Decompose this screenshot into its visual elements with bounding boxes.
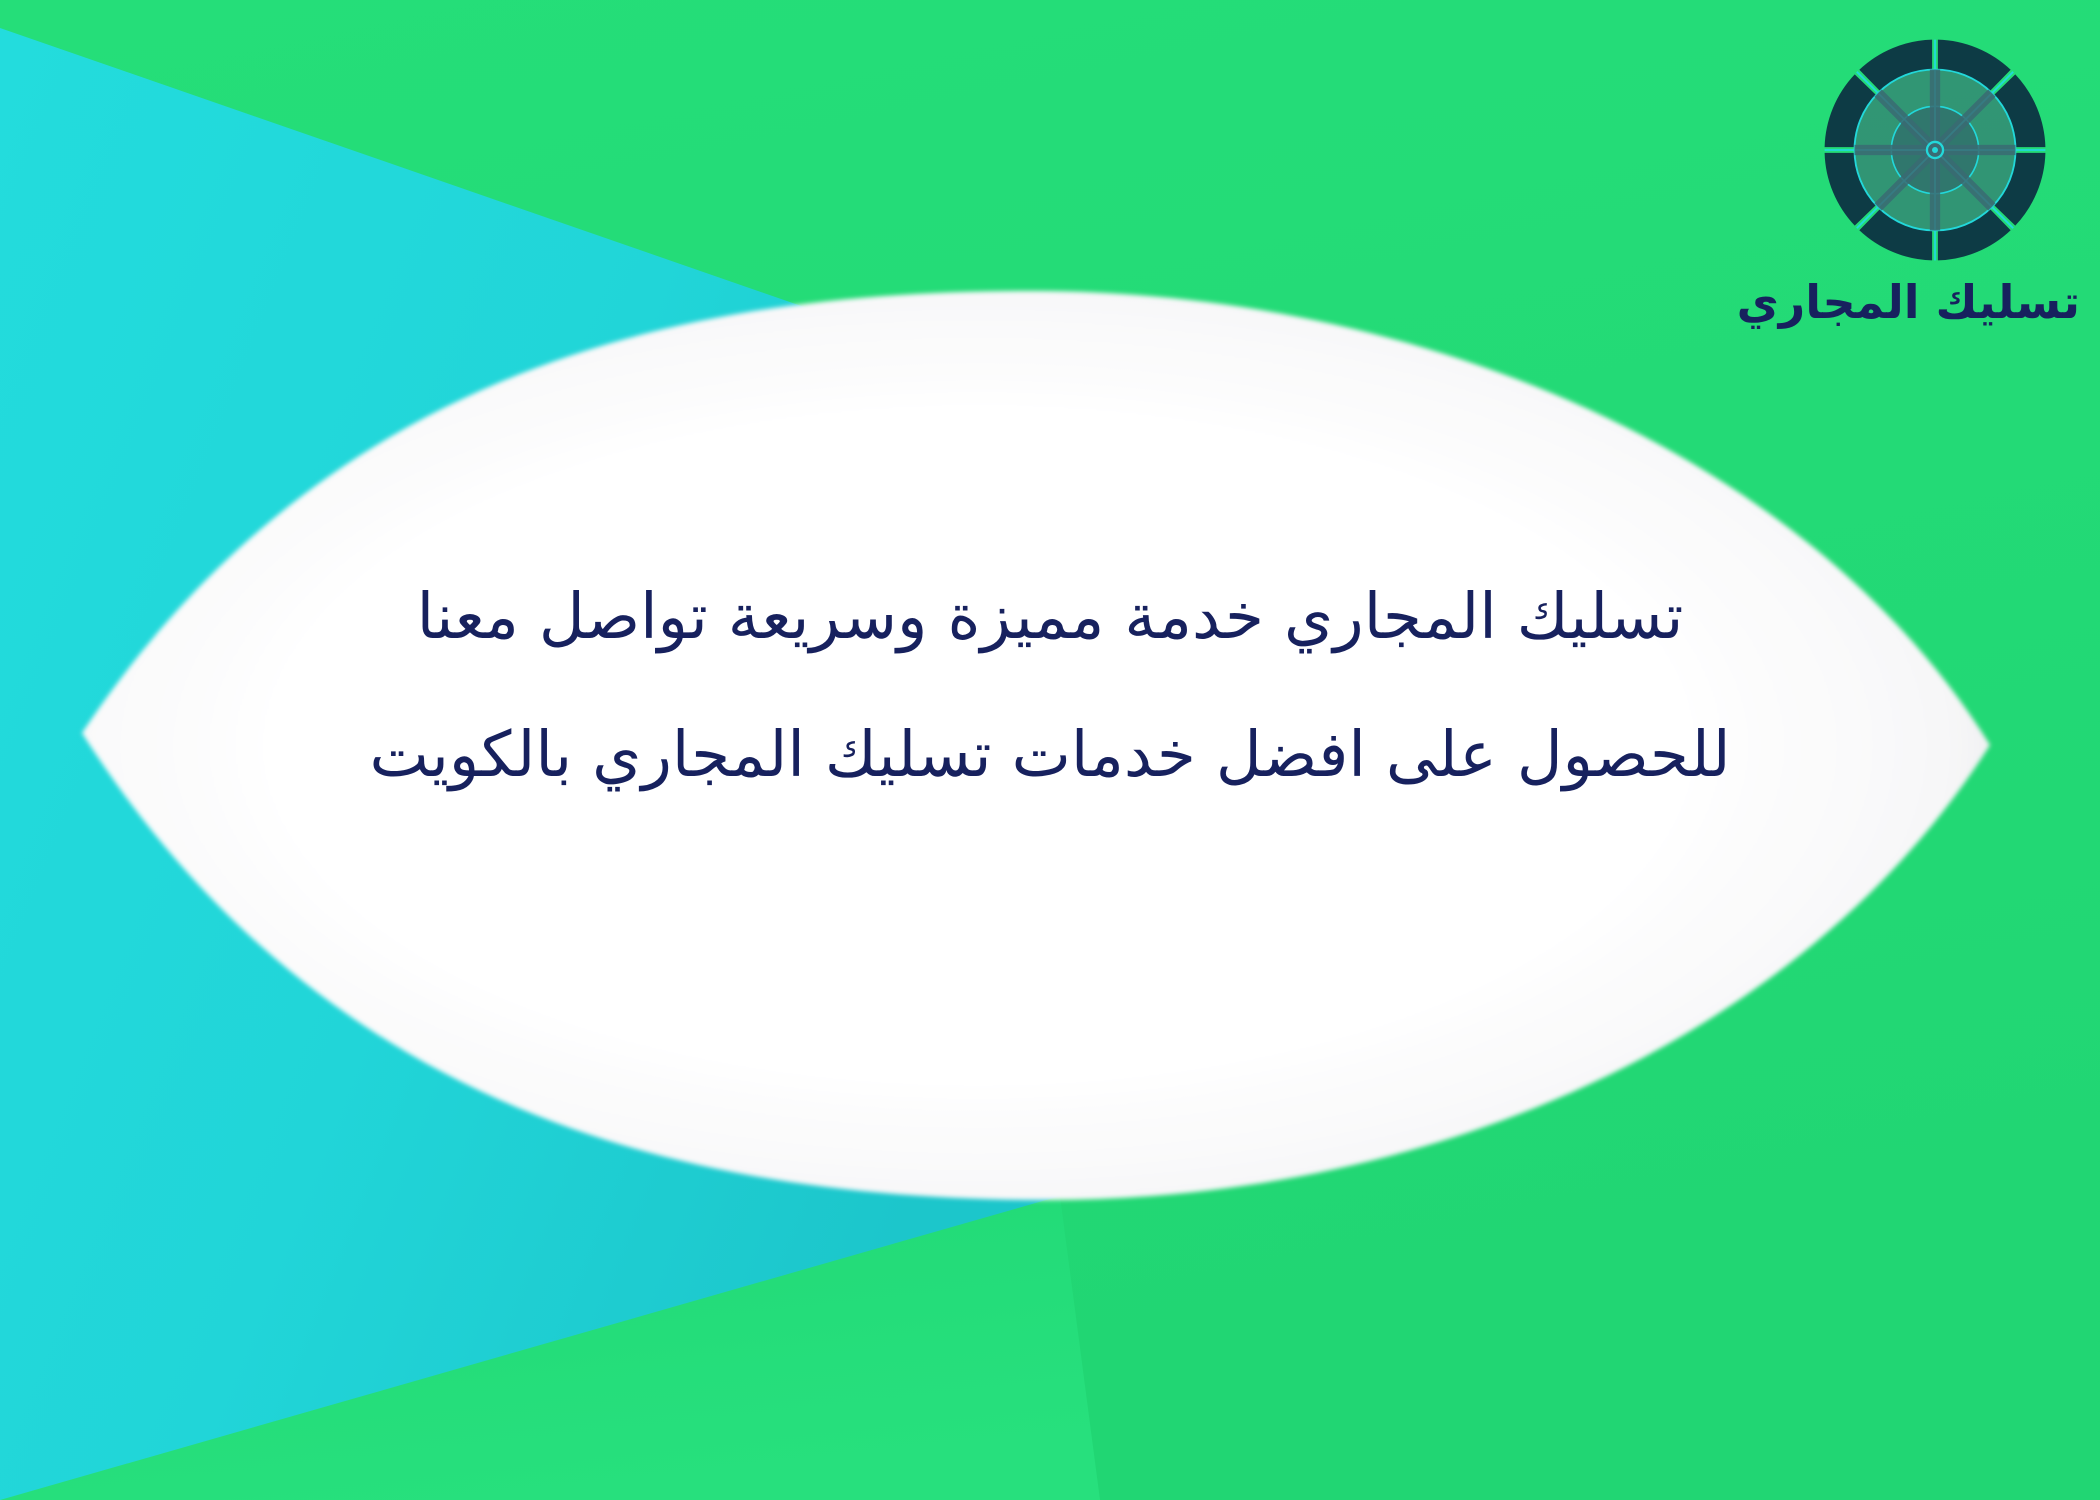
brand-logo[interactable]: تسليك المجاري: [1790, 35, 2080, 410]
headline-line-1: تسليك المجاري خدمة مميزة وسريعة تواصل مع…: [170, 585, 1930, 649]
logo-center-dot: [1932, 147, 1938, 153]
headline-line-2: للحصول على افضل خدمات تسليك المجاري بالك…: [170, 723, 1930, 787]
wheel-logo-icon: [1820, 35, 2050, 265]
headline-block: تسليك المجاري خدمة مميزة وسريعة تواصل مع…: [170, 585, 1930, 788]
promo-poster: تسليك المجاري خدمة مميزة وسريعة تواصل مع…: [0, 0, 2100, 1500]
logo-wordmark: تسليك المجاري: [1790, 279, 2080, 325]
